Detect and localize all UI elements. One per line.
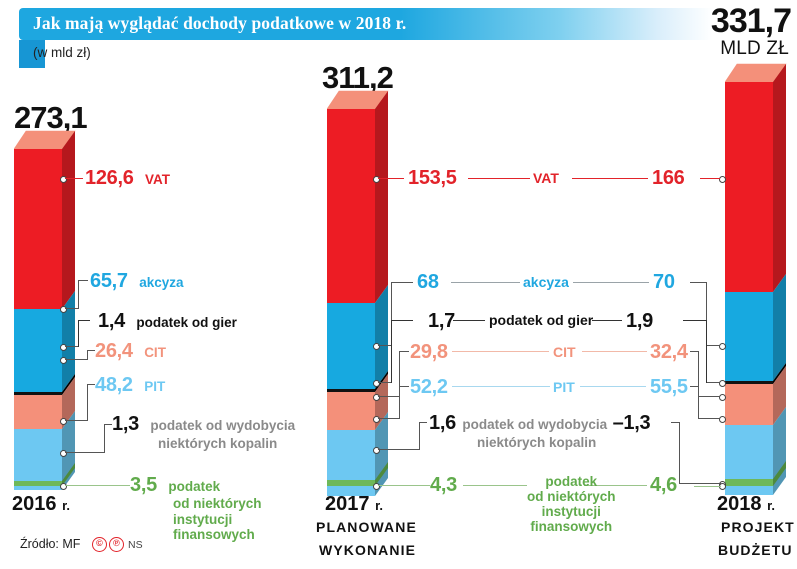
leader-line-wyd-2017-v — [419, 422, 420, 450]
bar-2017-segment-pit — [327, 430, 375, 496]
bar-2018-segment-finansowe — [725, 479, 773, 486]
bar-2018-segment-cit — [725, 384, 773, 425]
leader-dot-pit-2018 — [719, 416, 726, 423]
leader-dot-gier-2018 — [719, 380, 726, 387]
leader-line-cit-2018-h — [698, 396, 720, 397]
leader-line-vat-2017 — [378, 178, 404, 179]
bar-2018-top-cap — [725, 64, 773, 82]
leader-line-fin-2018 — [694, 486, 721, 487]
value-vat-2018: 166 — [652, 167, 684, 189]
label-cit-2016: 26,4 CIT — [95, 340, 166, 362]
leader-line-gier-2017-h2 — [391, 320, 413, 321]
value-cit-2017: 29,8 — [410, 341, 448, 363]
leader-line-gier-2016-h — [65, 346, 79, 347]
category-vat-2016: VAT — [145, 172, 170, 187]
label-category-finansowe: podatek od niektórych instytucji finanso… — [527, 474, 616, 534]
label-akcyza-2017: 68 — [417, 271, 439, 293]
bar-2016-segment-finansowe — [14, 481, 62, 486]
leader-line-pit-2017-h2 — [399, 386, 409, 387]
label-akcyza-2016: 65,7 akcyza — [90, 270, 183, 292]
category-finansowe-center-l3: instytucji — [527, 504, 616, 519]
axis-caption-2018-l1: PROJEKT — [721, 519, 795, 535]
leader-line-gier-2017-h — [378, 382, 392, 383]
axis-year-2017: 2017 — [325, 493, 370, 515]
leader-line-gier-2018-h — [706, 382, 720, 383]
label-pit-2018: 55,5 — [650, 376, 688, 398]
bar-2017-segment-finansowe — [327, 480, 375, 486]
category-akcyza-center: akcyza — [523, 274, 569, 290]
page-title: Jak mają wyglądać dochody podatkowe w 20… — [33, 13, 406, 34]
leader-line-vat-2016 — [65, 178, 83, 179]
axis-label-2017: 2017 r. — [325, 493, 383, 516]
value-gier-2018: 1,9 — [626, 310, 653, 332]
grand-total-unit: MLD ZŁ — [720, 38, 789, 60]
value-pit-2016: 48,2 — [95, 374, 133, 396]
label-wydobycie-center: 1,6 podatek od wydobycia –1,3 niektórych… — [429, 412, 650, 451]
category-pit-2016: PIT — [144, 379, 165, 394]
axis-label-2018: 2018 r. — [717, 493, 775, 516]
bar-2016-segment-vat — [14, 149, 62, 309]
category-cit-center: CIT — [553, 344, 576, 360]
axis-label-2016: 2016 r. — [12, 493, 70, 516]
label-gier-2017: 1,7 — [428, 310, 455, 332]
leader-line-pit-2016-h2 — [87, 384, 95, 385]
label-gier-2018: 1,9 — [626, 310, 653, 332]
ns-mark-label: NS — [128, 539, 143, 551]
label-wydobycie-2016: 1,3 podatek od wydobycia niektórych kopa… — [112, 413, 295, 452]
category-akcyza-2016: akcyza — [139, 275, 183, 290]
leader-line-pit-mid-a — [452, 386, 550, 387]
label-category-cit: CIT — [553, 344, 576, 362]
bar-2017-segment-akcyza — [327, 303, 375, 389]
label-vat-2016: 126,6 VAT — [85, 167, 170, 189]
bar-2017-top-cap — [327, 91, 375, 109]
value-akcyza-2017: 68 — [417, 271, 439, 293]
leader-line-wyd-2018-h2 — [671, 422, 680, 423]
axis-year-2016-suffix: r. — [62, 498, 70, 513]
axis-year-2016: 2016 — [12, 493, 57, 515]
leader-line-gier-mid-b — [592, 320, 622, 321]
leader-line-akcyza-2016-h2 — [78, 280, 88, 281]
leader-line-cit-mid-a — [452, 351, 549, 352]
label-finansowe-2016: 3,5 podatek od niektórych instytucji fin… — [130, 474, 262, 542]
leader-line-wyd-2016-h — [65, 452, 105, 453]
label-category-pit: PIT — [553, 379, 575, 397]
value-akcyza-2016: 65,7 — [90, 270, 128, 292]
leader-line-pit-2018-v — [698, 386, 699, 419]
leader-line-cit-2018-h2 — [690, 351, 699, 352]
label-cit-2018: 32,4 — [650, 341, 688, 363]
leader-line-akcyza-2016-h — [65, 308, 79, 309]
leader-line-wyd-2017-h — [378, 449, 420, 450]
leader-line-akcyza-2016-v — [78, 281, 79, 309]
axis-caption-2017-l1: PLANOWANE — [316, 519, 417, 535]
grand-total-value: 331,7 — [711, 2, 791, 41]
label-akcyza-2018: 70 — [653, 271, 675, 293]
bar-2018-segment-vat — [725, 82, 773, 292]
leader-line-wyd-2017-h2 — [419, 422, 427, 423]
leader-line-wyd-2018-v — [679, 422, 680, 484]
leader-dot-akcyza-2018 — [719, 343, 726, 350]
category-gier-2016: podatek od gier — [136, 315, 237, 330]
category-vat-center: VAT — [533, 170, 559, 186]
category-wydobycie-center-l2: niektórych kopalin — [477, 435, 650, 450]
leader-line-cit-2016-v — [87, 350, 88, 360]
category-wydobycie-center-l1: podatek od wydobycia — [462, 417, 607, 432]
label-vat-2018: 166 — [652, 167, 684, 189]
axis-year-2017-suffix: r. — [375, 498, 383, 513]
leader-line-akcyza-2017-h — [378, 345, 392, 346]
category-finansowe-center-l1: podatek — [527, 474, 616, 489]
leader-line-cit-2016-h2 — [87, 350, 95, 351]
category-pit-center: PIT — [553, 379, 575, 395]
leader-line-pit-2017-v — [399, 386, 400, 419]
value-akcyza-2018: 70 — [653, 271, 675, 293]
bar-2016-top-cap — [14, 131, 62, 149]
leader-line-akcyza-2017-h2 — [391, 282, 413, 283]
value-gier-2016: 1,4 — [98, 310, 125, 332]
label-pit-2016: 48,2 PIT — [95, 374, 165, 396]
label-category-gier: podatek od gier — [489, 312, 593, 330]
leader-line-wyd-2016-h2 — [104, 424, 112, 425]
category-finansowe-2016-l4: finansowych — [173, 527, 262, 542]
bar-2017-segment-cit — [327, 392, 375, 430]
label-finansowe-2018: 4,6 — [650, 474, 677, 496]
value-vat-2016: 126,6 — [85, 167, 134, 189]
bar-2016-segment-cit — [14, 395, 62, 429]
leader-line-pit-2017-h — [378, 418, 400, 419]
leader-line-gier-2018-v — [706, 320, 707, 383]
leader-dot-cit-2018 — [719, 394, 726, 401]
category-wydobycie-2016-l1: podatek od wydobycia — [150, 418, 295, 433]
leader-line-fin-mid-a — [463, 485, 527, 486]
bar-2016 — [14, 131, 62, 486]
leader-dot-vat-2018 — [719, 176, 726, 183]
leader-line-cit-2016-h — [65, 359, 87, 360]
bar-2017 — [327, 91, 375, 486]
bar-2016-segment-akcyza — [14, 309, 62, 392]
leader-line-pit-mid-b — [580, 386, 646, 387]
value-pit-2017: 52,2 — [410, 376, 448, 398]
leader-line-pit-2016-h — [65, 420, 87, 421]
phonogram-p-icon: ℗ — [109, 537, 124, 552]
category-finansowe-center-l4: finansowych — [527, 519, 616, 534]
leader-line-pit-2016-v — [87, 384, 88, 421]
bar-2018-segment-akcyza — [725, 292, 773, 381]
value-finansowe-2018: 4,6 — [650, 474, 677, 496]
leader-line-cit-mid-b — [582, 351, 647, 352]
leader-line-gier-2018-h2 — [683, 320, 707, 321]
leader-line-fin-2016 — [65, 485, 130, 486]
leader-line-vat-mid-b — [572, 178, 648, 179]
copyright-c-icon: © — [92, 537, 107, 552]
category-finansowe-2016-l1: podatek — [168, 479, 220, 494]
bar-2018 — [725, 64, 773, 486]
leader-line-gier-2017-v — [391, 320, 392, 383]
label-vat-2017: 153,5 — [408, 167, 457, 189]
value-pit-2018: 55,5 — [650, 376, 688, 398]
axis-year-2018-suffix: r. — [767, 498, 775, 513]
category-cit-2016: CIT — [144, 345, 166, 360]
value-finansowe-2017: 4,3 — [430, 474, 457, 496]
value-cit-2016: 26,4 — [95, 340, 133, 362]
value-cit-2018: 32,4 — [650, 341, 688, 363]
leader-line-akcyza-2018-h — [706, 345, 720, 346]
label-category-akcyza: akcyza — [523, 274, 569, 292]
value-wydobycie-2018: –1,3 — [613, 412, 651, 434]
leader-line-akcyza-mid-b — [573, 282, 649, 283]
axis-caption-2017-l2: WYKONANIE — [319, 542, 416, 558]
category-wydobycie-2016-l2: niektórych kopalin — [158, 436, 295, 451]
leader-line-gier-mid-a — [453, 320, 485, 321]
infographic-root: Jak mają wyglądać dochody podatkowe w 20… — [0, 0, 797, 569]
axis-caption-2018-l2: BUDŻETU — [718, 542, 793, 558]
category-finansowe-center-l2: od niektórych — [527, 489, 616, 504]
value-wydobycie-2017: 1,6 — [429, 412, 456, 434]
label-pit-2017: 52,2 — [410, 376, 448, 398]
value-finansowe-2016: 3,5 — [130, 474, 157, 496]
label-finansowe-2017: 4,3 — [430, 474, 457, 496]
bar-2017-segment-vat — [327, 109, 375, 303]
leader-line-wyd-2016-v — [104, 424, 105, 453]
source-note: Źródło: MF — [20, 537, 80, 551]
leader-line-wyd-2018-h — [679, 483, 721, 484]
value-vat-2017: 153,5 — [408, 167, 457, 189]
value-wydobycie-2016: 1,3 — [112, 413, 139, 435]
leader-line-cit-2017-h — [378, 396, 400, 397]
label-category-vat: VAT — [533, 170, 559, 188]
leader-line-vat-mid-a — [468, 178, 530, 179]
axis-year-2018: 2018 — [717, 493, 762, 515]
leader-line-akcyza-mid-a — [451, 282, 520, 283]
leader-line-pit-2018-h — [698, 418, 720, 419]
category-gier-center: podatek od gier — [489, 312, 593, 328]
leader-line-gier-2016-v — [78, 320, 79, 347]
leader-line-vat-2018 — [700, 178, 720, 179]
category-finansowe-2016-l2: od niektórych — [173, 496, 262, 511]
copyright-mark: ©℗NS — [92, 536, 143, 554]
leader-line-pit-2018-h2 — [690, 386, 699, 387]
label-gier-2016: 1,4 podatek od gier — [98, 310, 237, 332]
leader-line-fin-2017 — [378, 485, 430, 486]
value-gier-2017: 1,7 — [428, 310, 455, 332]
leader-line-akcyza-2018-h2 — [690, 282, 707, 283]
label-cit-2017: 29,8 — [410, 341, 448, 363]
leader-line-gier-2016-h2 — [78, 320, 90, 321]
category-finansowe-2016-l3: instytucji — [173, 512, 262, 527]
unit-subtitle: (w mld zł) — [33, 45, 91, 60]
leader-line-cit-2017-h2 — [399, 351, 409, 352]
